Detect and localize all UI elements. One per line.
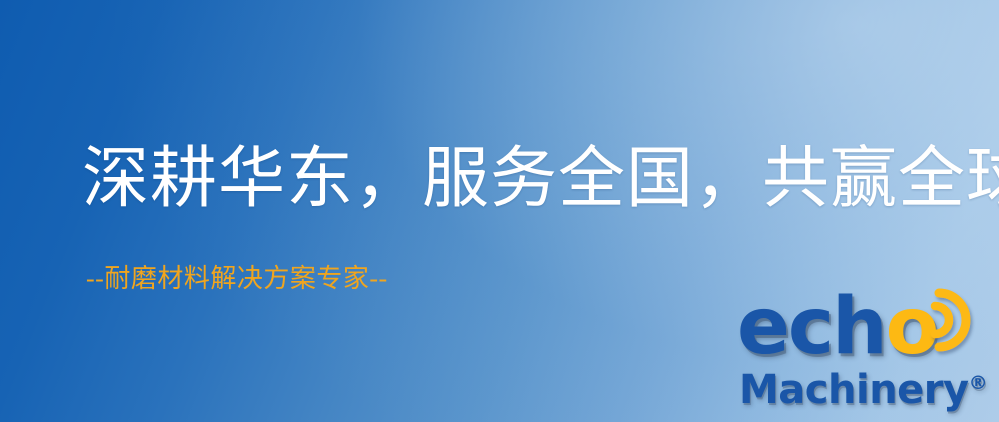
signal-waves-icon [923,290,993,354]
company-logo[interactable]: echo Machinery® [733,292,991,422]
logo-wordmark: echo [733,292,991,376]
logo-tagline-text: Machinery [739,367,969,413]
banner-headline: 深耕华东，服务全国，共赢全球 [82,146,999,213]
logo-brand-ech: ech [737,282,886,372]
banner-content: 深耕华东，服务全国，共赢全球 --耐磨材料解决方案专家-- echo [0,0,999,422]
registered-trademark-icon: ® [969,372,988,394]
logo-brand-name: echo [737,288,937,366]
banner-subtitle: --耐磨材料解决方案专家-- [86,266,388,292]
promo-banner: 深耕华东，服务全国，共赢全球 --耐磨材料解决方案专家-- echo [0,0,999,422]
logo-tagline: Machinery® [739,370,988,410]
